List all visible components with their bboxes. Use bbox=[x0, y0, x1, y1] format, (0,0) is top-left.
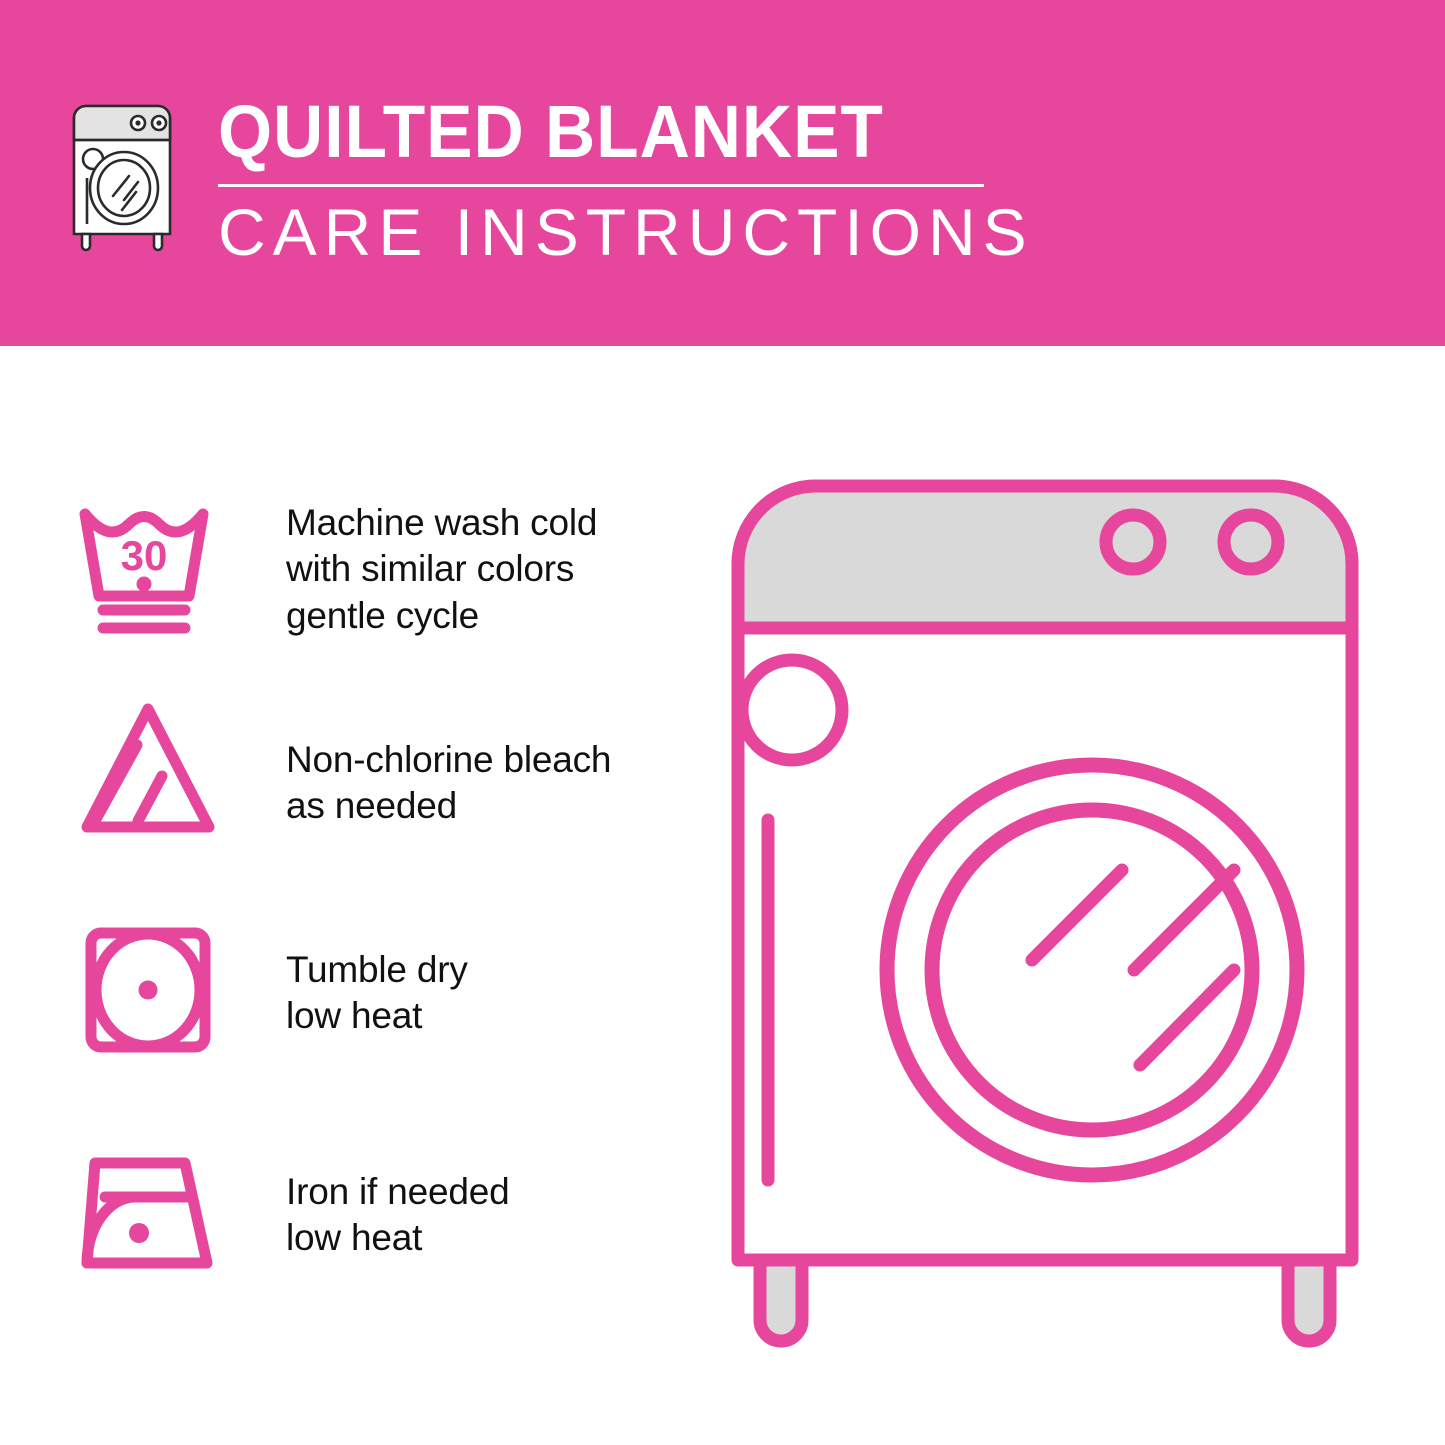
iron-low-heat-icon bbox=[68, 1135, 228, 1285]
care-instruction-list: 30 Machine wash cold with similar colors… bbox=[0, 460, 722, 1340]
care-text-block: Machine wash cold with similar colors ge… bbox=[286, 488, 597, 639]
machine-legs bbox=[760, 1260, 1330, 1341]
care-line: low heat bbox=[286, 993, 468, 1039]
care-line: low heat bbox=[286, 1215, 509, 1261]
non-chlorine-bleach-triangle-icon bbox=[68, 693, 228, 843]
page-title: QUILTED BLANKET bbox=[218, 96, 985, 169]
washing-machine-icon bbox=[60, 102, 184, 254]
care-line: gentle cycle bbox=[286, 593, 597, 639]
care-line: Iron if needed bbox=[286, 1169, 509, 1215]
tumble-dry-low-heat-icon bbox=[68, 915, 228, 1065]
wash-tub-30-gentle-icon: 30 bbox=[68, 488, 228, 638]
care-row: 30 Machine wash cold with similar colors… bbox=[0, 488, 722, 688]
title-divider bbox=[218, 184, 984, 187]
care-row: Non-chlorine bleach as needed bbox=[0, 693, 722, 893]
care-line: with similar colors bbox=[286, 546, 597, 592]
large-washing-machine-illustration bbox=[722, 470, 1412, 1370]
care-line: Machine wash cold bbox=[286, 500, 597, 546]
care-row: Iron if needed low heat bbox=[0, 1135, 722, 1335]
page-subtitle: CARE INSTRUCTIONS bbox=[218, 199, 1034, 265]
care-row: Tumble dry low heat bbox=[0, 915, 722, 1115]
control-knob-left bbox=[1106, 515, 1160, 569]
care-text-block: Iron if needed low heat bbox=[286, 1135, 509, 1262]
wash-temperature-value: 30 bbox=[121, 532, 168, 579]
care-text-block: Tumble dry low heat bbox=[286, 915, 468, 1040]
care-line: Non-chlorine bleach bbox=[286, 737, 611, 783]
header-banner: QUILTED BLANKET CARE INSTRUCTIONS bbox=[0, 0, 1445, 346]
care-line: Tumble dry bbox=[286, 947, 468, 993]
detergent-dispenser-icon bbox=[742, 660, 842, 760]
control-knob-right bbox=[1224, 515, 1278, 569]
header-title-block: QUILTED BLANKET CARE INSTRUCTIONS bbox=[218, 96, 1034, 265]
header-content: QUILTED BLANKET CARE INSTRUCTIONS bbox=[60, 96, 1034, 265]
care-text-block: Non-chlorine bleach as needed bbox=[286, 693, 611, 830]
care-line: as needed bbox=[286, 783, 611, 829]
machine-door-inner bbox=[932, 810, 1252, 1130]
